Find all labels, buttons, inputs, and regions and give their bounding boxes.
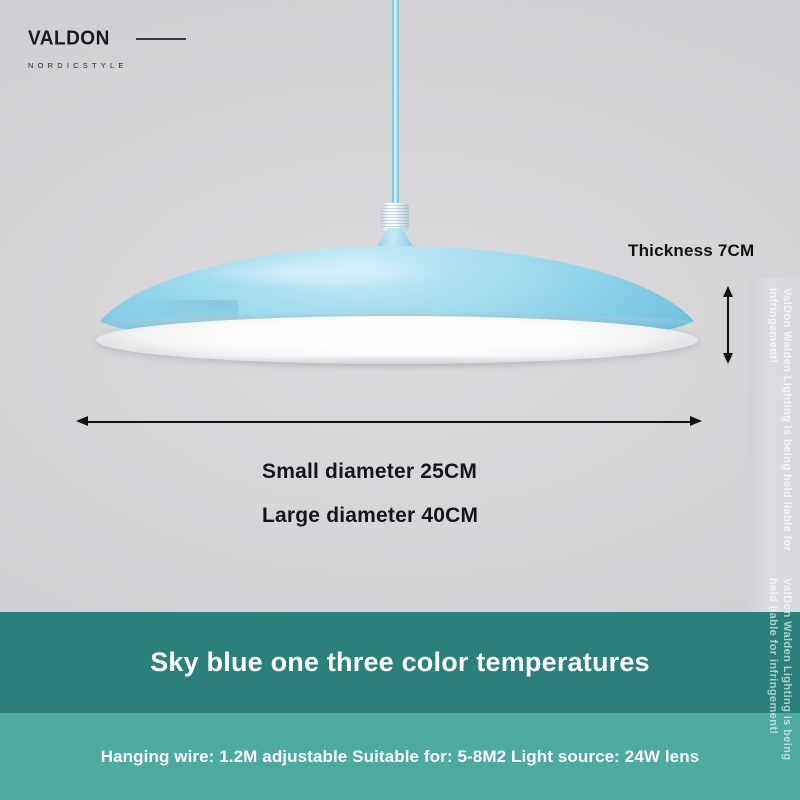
large-diameter-label: Large diameter 40CM bbox=[262, 504, 478, 528]
primary-banner: Sky blue one three color temperatures bbox=[0, 612, 800, 713]
lamp-socket-ridges bbox=[381, 205, 409, 229]
primary-banner-text: Sky blue one three color temperatures bbox=[0, 612, 800, 713]
watermark-primary: ValDon Walden Lighting is being held lia… bbox=[764, 288, 794, 588]
thickness-label: Thickness 7CM bbox=[628, 241, 754, 261]
arrow-head-right-icon bbox=[690, 416, 702, 426]
lamp-drop-shadow bbox=[140, 352, 660, 372]
lamp-shade-highlight bbox=[150, 252, 480, 294]
thickness-arrow-icon bbox=[723, 286, 733, 364]
secondary-banner: Hanging wire: 1.2M adjustable Suitable f… bbox=[0, 713, 800, 800]
secondary-banner-text: Hanging wire: 1.2M adjustable Suitable f… bbox=[0, 713, 800, 800]
small-diameter-label: Small diameter 25CM bbox=[262, 460, 477, 484]
arrow-shaft-vertical bbox=[727, 294, 729, 356]
product-image-canvas: VALDON NORDICSTYLE Thickness 7CM Small d… bbox=[0, 0, 800, 800]
arrow-head-down-icon bbox=[723, 353, 733, 364]
lamp-cord-highlight bbox=[394, 0, 396, 208]
diameter-arrow-icon bbox=[76, 416, 702, 427]
watermark-secondary: ValDon Walden Lighting is being held lia… bbox=[764, 578, 794, 788]
arrow-shaft-horizontal bbox=[85, 421, 693, 423]
